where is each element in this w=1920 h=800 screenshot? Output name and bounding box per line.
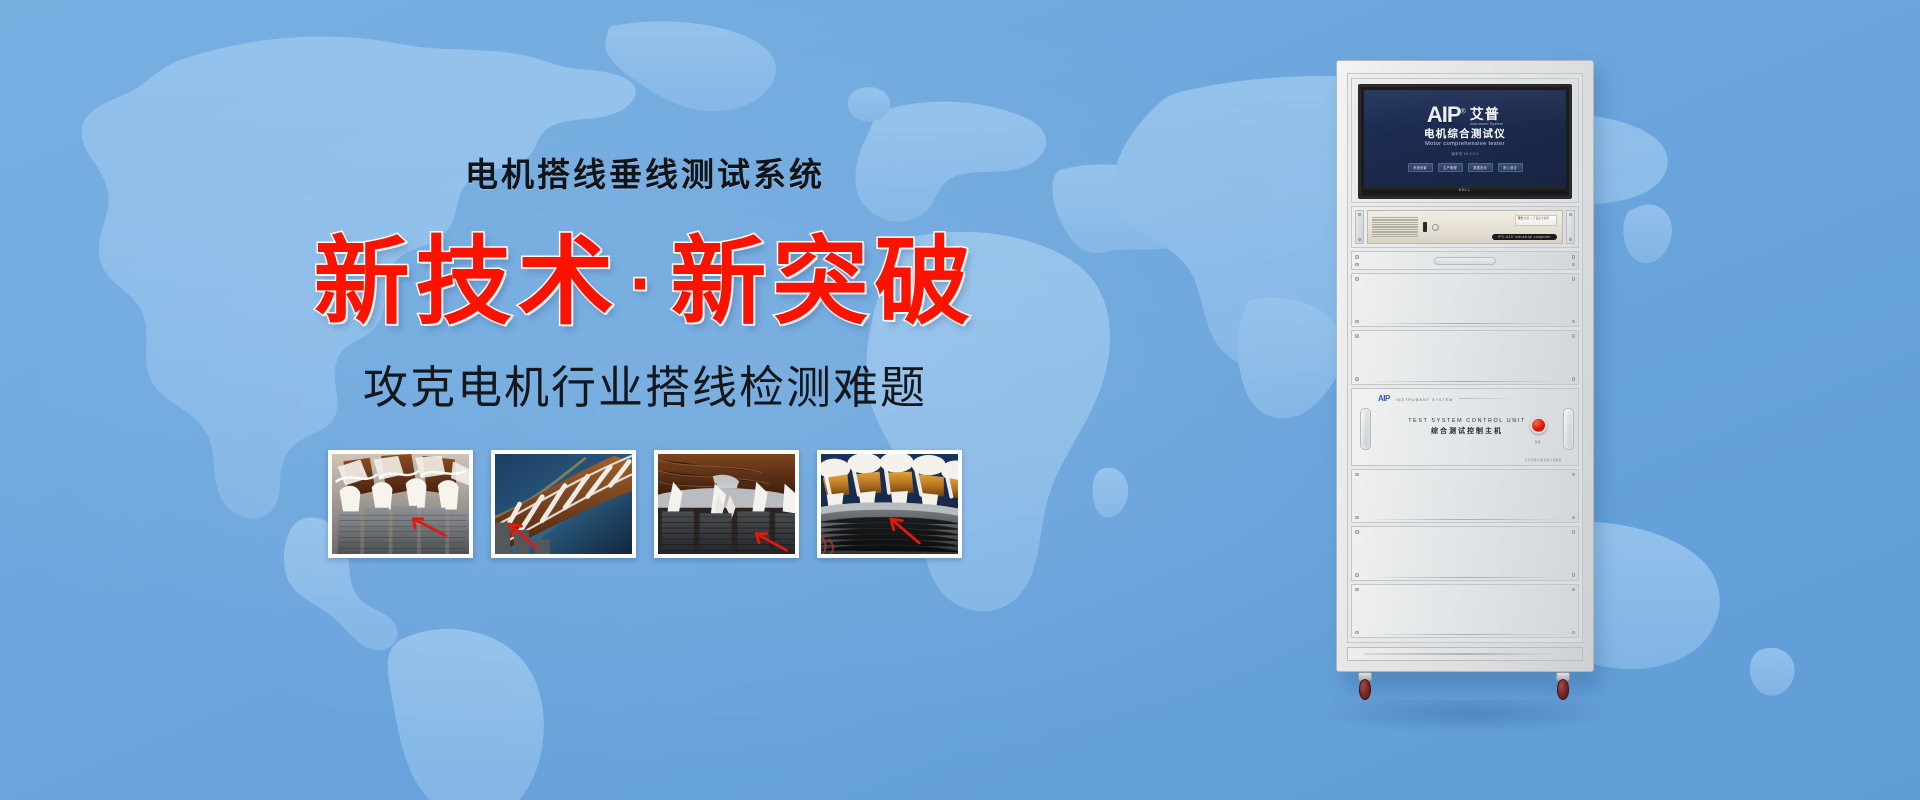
headline-left-text: 新技术 xyxy=(314,229,620,336)
monitor-bezel: AIP® 艾普Instrument System 电机综合测试仪 Motor c… xyxy=(1358,84,1572,199)
thumbnail-strip xyxy=(328,450,962,558)
base-seam xyxy=(1364,653,1565,655)
panel-screws-icon xyxy=(1352,527,1578,579)
power-key-lock-icon[interactable] xyxy=(1432,224,1439,231)
monitor-module: AIP® 艾普Instrument System 电机综合测试仪 Motor c… xyxy=(1351,78,1579,203)
industrial-pc-module: 警告 注意 — 产品安全说明 IPC-610 Industrial comput… xyxy=(1351,206,1579,248)
control-unit-face: TEST SYSTEM CONTROL UNIT 综合测试控制主机 急停 xyxy=(1375,394,1559,460)
blank-panel-2 xyxy=(1351,330,1579,384)
industrial-pc-face: 警告 注意 — 产品安全说明 IPC-610 Industrial comput… xyxy=(1367,210,1563,244)
warning-sticker: 警告 注意 — 产品安全说明 xyxy=(1515,215,1557,226)
drawer-handle[interactable] xyxy=(1434,257,1496,265)
warning-sticker-title: 警告 xyxy=(1518,217,1523,220)
monitor-screen[interactable]: AIP® 艾普Instrument System 电机综合测试仪 Motor c… xyxy=(1364,90,1566,186)
blank-panel-3 xyxy=(1351,469,1579,523)
cabinet-rack: AIP® 艾普Instrument System 电机综合测试仪 Motor c… xyxy=(1347,73,1583,643)
screen-title-en: Motor comprehensive tester xyxy=(1425,141,1505,147)
blank-panel-1 xyxy=(1351,273,1579,327)
screen-button-row: 系统设置 生产管理 数据查询 进入测试 xyxy=(1408,163,1523,172)
sub-headline: 攻克电机行业搭线检测难题 xyxy=(363,365,927,410)
screen-version-label: 版本号 V4.2.0.3 xyxy=(1451,151,1478,156)
drive-slot[interactable] xyxy=(1423,222,1427,232)
aip-logo-cn-text: 艾普 xyxy=(1470,106,1500,122)
ventilation-grille-icon xyxy=(1372,216,1418,238)
cabinet-casters xyxy=(1336,672,1606,712)
industrial-pc-model-label: IPC-610 Industrial computer xyxy=(1492,234,1557,240)
aip-logo-chinese: 艾普Instrument System xyxy=(1470,107,1503,126)
monitor-chin: DELL xyxy=(1364,186,1566,193)
test-system-cabinet: AIP® 艾普Instrument System 电机综合测试仪 Motor c… xyxy=(1336,60,1606,720)
screen-button-data-query[interactable]: 数据查询 xyxy=(1468,163,1493,172)
headline-right-text: 新突破 xyxy=(670,229,976,336)
cabinet-frame: AIP® 艾普Instrument System 电机综合测试仪 Motor c… xyxy=(1336,60,1594,672)
panel-screws-icon xyxy=(1352,470,1578,522)
aip-logo-mark: AIP® xyxy=(1427,104,1465,126)
blank-panel-5 xyxy=(1351,584,1579,638)
dell-brand-badge: DELL xyxy=(1459,188,1472,192)
headline-block: 电机搭线垂线测试系统 新技术·新突破 攻克电机行业搭线检测难题 xyxy=(0,0,1290,800)
headline-separator-dot: · xyxy=(620,242,671,325)
aip-logo-registered-icon: ® xyxy=(1461,108,1465,115)
control-unit-footnote: 艾普智能仪器有限公司制造 xyxy=(1525,458,1562,462)
aip-logo-text: AIP xyxy=(1427,102,1461,127)
main-headline: 新技术·新突破 xyxy=(314,235,977,331)
panel-seam xyxy=(1366,381,1565,382)
drawer-panel[interactable] xyxy=(1351,251,1579,270)
control-unit-handle-left[interactable] xyxy=(1360,408,1371,450)
control-unit-title-en: TEST SYSTEM CONTROL UNIT xyxy=(1408,418,1525,424)
emergency-stop-caption: 急停 xyxy=(1526,440,1550,444)
promo-banner: 电机搭线垂线测试系统 新技术·新突破 攻克电机行业搭线检测难题 xyxy=(0,0,1920,800)
panel-screws-icon xyxy=(1352,585,1578,637)
screen-button-production-mgmt[interactable]: 生产管理 xyxy=(1438,163,1463,172)
panel-screws-icon xyxy=(1352,331,1578,383)
panel-seam xyxy=(1366,577,1565,578)
emergency-stop-button[interactable] xyxy=(1530,417,1547,434)
blank-panel-4 xyxy=(1351,526,1579,580)
caster-wheel-right xyxy=(1554,672,1572,702)
cabinet-base-plinth xyxy=(1347,647,1583,661)
control-unit-module: AIP INSTRUMENT SYSTEM TEST SYSTEM CONTRO… xyxy=(1351,388,1579,466)
thumbnail-stator-ring-closeup-4[interactable] xyxy=(817,450,962,558)
panel-seam xyxy=(1366,323,1565,324)
eyebrow-title: 电机搭线垂线测试系统 xyxy=(465,158,825,191)
caster-wheel xyxy=(1557,679,1569,700)
screen-logo-row: AIP® 艾普Instrument System xyxy=(1427,104,1503,126)
screen-title-cn: 电机综合测试仪 xyxy=(1424,129,1506,141)
thumbnail-stator-slot-closeup-3[interactable] xyxy=(654,450,799,558)
control-unit-title-cn: 综合测试控制主机 xyxy=(1431,426,1503,436)
rack-ear-right xyxy=(1566,210,1575,244)
panel-screws-icon xyxy=(1352,274,1578,326)
thumbnail-stator-winding-closeup-2[interactable] xyxy=(491,450,636,558)
thumbnail-stator-winding-closeup-1[interactable] xyxy=(328,450,473,558)
caster-wheel-left xyxy=(1356,672,1374,702)
screen-button-system-settings[interactable]: 系统设置 xyxy=(1408,163,1433,172)
screen-button-enter-test[interactable]: 进入测试 xyxy=(1498,163,1523,172)
warning-sticker-line1: 注意 — 产品安全说明 xyxy=(1524,217,1549,220)
rack-ear-left xyxy=(1355,210,1364,244)
panel-seam xyxy=(1366,519,1565,520)
aip-logo-tagline: Instrument System xyxy=(1470,123,1503,126)
control-unit-handle-right[interactable] xyxy=(1563,408,1574,450)
caster-wheel xyxy=(1359,679,1371,700)
panel-seam xyxy=(1366,634,1565,635)
